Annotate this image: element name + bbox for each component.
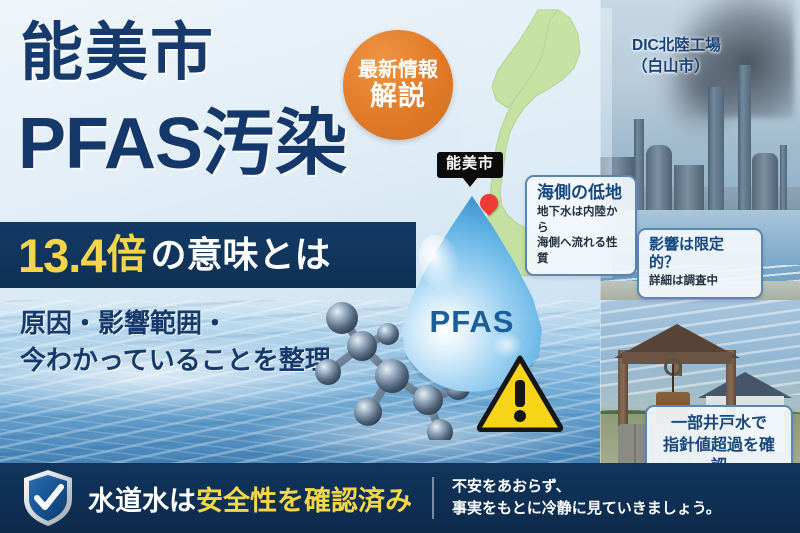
page-title-line2: PFAS汚染: [18, 108, 348, 180]
infographic-thumbnail: 能美市 能美市 PFAS汚染 最新情報 解説 13.4 倍 の意味とは 原因・影…: [0, 0, 800, 533]
banner-sub-line1: 不安をあおらず、: [452, 476, 721, 499]
smokestack: [738, 65, 751, 215]
callout-detail-line2: 海側へ流れる性質: [537, 236, 625, 267]
map-city-label: 能美市: [437, 152, 503, 178]
banner-main-text: 水道水は安全性を確認済み: [88, 479, 412, 518]
callout-detail-line1: 詳細は調査中: [649, 274, 751, 290]
callout-coastal-lowland: 海側の低地 地下水は内陸から 海側へ流れる性質: [525, 175, 637, 276]
callout-impact-limited: 影響は限定的？ 詳細は調査中: [637, 228, 763, 299]
shield-check-icon: [22, 469, 74, 527]
banner-highlight: 安全性を確認済み: [196, 486, 412, 516]
droplet-label: PFAS: [396, 304, 548, 340]
safety-banner: 水道水は安全性を確認済み 不安をあおらず、 事実をもとに冷静に見ていきましょう。: [0, 463, 800, 533]
factory-label: DIC北陸工場 （白山市）: [632, 36, 721, 78]
callout-title-line1: 一部井戸水で: [657, 413, 781, 435]
banner-divider: [432, 477, 434, 519]
factory-tank: [646, 145, 672, 215]
title-contamination: 汚染: [202, 104, 348, 184]
smokestack: [708, 87, 724, 215]
callout-title: 海側の低地: [537, 183, 625, 203]
callout-title: 影響は限定的？: [649, 236, 751, 272]
banner-sub-line2: 事実をもとに冷静に見ていきましょう。: [452, 498, 721, 521]
badge-line2: 解説: [370, 82, 426, 112]
multiplier-band: 13.4 倍 の意味とは: [0, 222, 416, 288]
multiplier-caption: の意味とは: [150, 237, 330, 273]
subtitle-line1: 原因・影響範囲・: [20, 305, 331, 342]
factory-label-line1: DIC北陸工場: [632, 36, 721, 57]
callout-detail-line1: 地下水は内陸から: [537, 205, 625, 236]
latest-info-badge: 最新情報 解説: [343, 30, 453, 140]
multiplier-value: 13.4: [18, 232, 105, 279]
banner-prefix: 水道水は: [88, 486, 196, 516]
subtitle-block: 原因・影響範囲・ 今わかっていることを整理: [20, 305, 331, 379]
smokestack: [780, 145, 787, 215]
subtitle-line2: 今わかっていることを整理: [20, 342, 331, 379]
banner-sub-text: 不安をあおらず、 事実をもとに冷静に見ていきましょう。: [452, 476, 721, 521]
warning-triangle-icon: [477, 354, 563, 432]
house-roof: [698, 372, 792, 398]
title-pfas: PFAS: [18, 104, 202, 184]
multiplier-unit: 倍: [106, 235, 146, 275]
page-title-line1: 能美市: [20, 22, 215, 85]
badge-line1: 最新情報: [358, 59, 438, 82]
factory-tank: [752, 153, 778, 215]
well-rope: [672, 364, 674, 394]
factory-building: [674, 165, 704, 215]
factory-label-line2: （白山市）: [632, 57, 721, 78]
